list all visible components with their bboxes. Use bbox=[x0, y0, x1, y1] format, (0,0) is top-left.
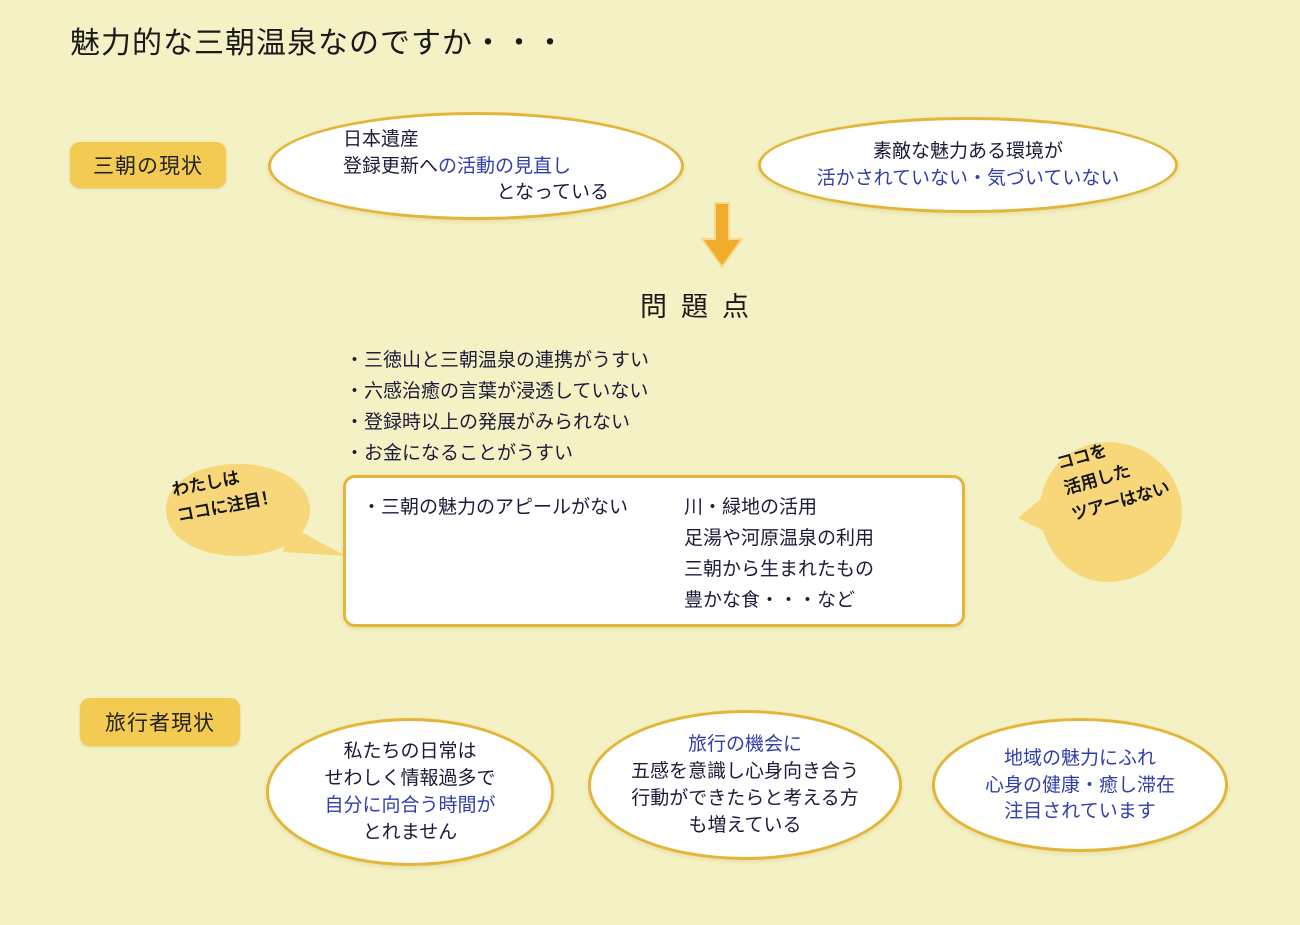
speech-bubble-left: わたしは ココに注目！ bbox=[150, 448, 350, 572]
speech-bubble-right: ココを 活用した ツアーはない bbox=[1018, 432, 1188, 592]
ellipse-line: とれません bbox=[363, 819, 457, 846]
list-item: ・三徳山と三朝温泉の連携がうすい bbox=[345, 345, 765, 376]
list-item: 足湯や河原温泉の利用 bbox=[684, 523, 874, 554]
heading-mondaiten: 問題点 bbox=[640, 285, 763, 324]
ellipse-line: 活かされていない・気づいていない bbox=[817, 165, 1120, 192]
ellipse-nichijou: 私たちの日常は せわしく情報過多で 自分に向合う時間が とれません bbox=[266, 718, 554, 866]
ellipse-line: 旅行の機会に bbox=[688, 731, 802, 758]
ellipse-nihon-isan-text: 日本遺産 登録更新への活動の見直し となっている bbox=[343, 126, 609, 207]
highlight-box-left-text: ・三朝の魅力のアピールがない bbox=[362, 492, 628, 519]
page-title: 魅力的な三朝温泉なのですか・・・ bbox=[70, 18, 566, 62]
ellipse-suteki-na-miryoku: 素敵な魅力ある環境が 活かされていない・気づいていない bbox=[758, 117, 1178, 213]
ellipse-line: 地域の魅力にふれ bbox=[1004, 745, 1156, 772]
ellipse-nihon-isan: 日本遺産 登録更新への活動の見直し となっている bbox=[268, 112, 684, 220]
ellipse-line: 素敵な魅力ある環境が bbox=[873, 138, 1063, 165]
list-item: 豊かな食・・・など bbox=[684, 585, 874, 616]
section-chip-genjo-label: 三朝の現状 bbox=[93, 150, 203, 180]
list-item: ・お金になることがうすい bbox=[345, 438, 765, 469]
ellipse-line: 五感を意識し心身向き合う bbox=[631, 758, 859, 785]
list-item: ・六感治癒の言葉が浸透していない bbox=[345, 376, 765, 407]
down-arrow-icon bbox=[700, 201, 744, 269]
problem-bullet-list: ・三徳山と三朝温泉の連携がうすい ・六感治癒の言葉が浸透していない ・登録時以上… bbox=[345, 345, 765, 470]
list-item: ・登録時以上の発展がみられない bbox=[345, 407, 765, 438]
highlight-box: ・三朝の魅力のアピールがない 川・緑地の活用 足湯や河原温泉の利用 三朝から生ま… bbox=[343, 475, 965, 627]
highlight-box-right-list: 川・緑地の活用 足湯や河原温泉の利用 三朝から生まれたもの 豊かな食・・・など bbox=[684, 492, 874, 617]
list-item: 川・緑地の活用 bbox=[684, 492, 874, 523]
list-item: 三朝から生まれたもの bbox=[684, 554, 874, 585]
ellipse-line: となっている bbox=[343, 179, 609, 206]
ellipse-chiiki-no-miryoku: 地域の魅力にふれ 心身の健康・癒し滞在 注目されています bbox=[932, 718, 1228, 852]
ellipse-line: も増えている bbox=[688, 812, 801, 839]
ellipse-line: 心身の健康・癒し滞在 bbox=[985, 772, 1175, 799]
ellipse-line-blue-part: の活動の見直し bbox=[438, 155, 571, 177]
ellipse-line: 自分に向合う時間が bbox=[324, 792, 495, 819]
slide-canvas: 魅力的な三朝温泉なのですか・・・ 三朝の現状 日本遺産 登録更新への活動の見直し… bbox=[0, 0, 1300, 925]
ellipse-line: 行動ができたらと考える方 bbox=[631, 785, 858, 812]
section-chip-genjo: 三朝の現状 bbox=[70, 142, 226, 188]
ellipse-line: 日本遺産 bbox=[343, 126, 609, 153]
ellipse-ryokou-no-kikai: 旅行の機会に 五感を意識し心身向き合う 行動ができたらと考える方 も増えている bbox=[588, 710, 902, 860]
ellipse-line: 注目されています bbox=[1004, 798, 1155, 825]
ellipse-line: せわしく情報過多で bbox=[324, 765, 495, 792]
section-chip-ryokousha-label: 旅行者現状 bbox=[105, 707, 215, 737]
ellipse-line: 登録更新への活動の見直し bbox=[343, 153, 609, 180]
ellipse-line-dark-part: 登録更新へ bbox=[343, 155, 438, 177]
ellipse-line: 私たちの日常は bbox=[343, 738, 476, 765]
section-chip-ryokousha: 旅行者現状 bbox=[80, 698, 240, 746]
